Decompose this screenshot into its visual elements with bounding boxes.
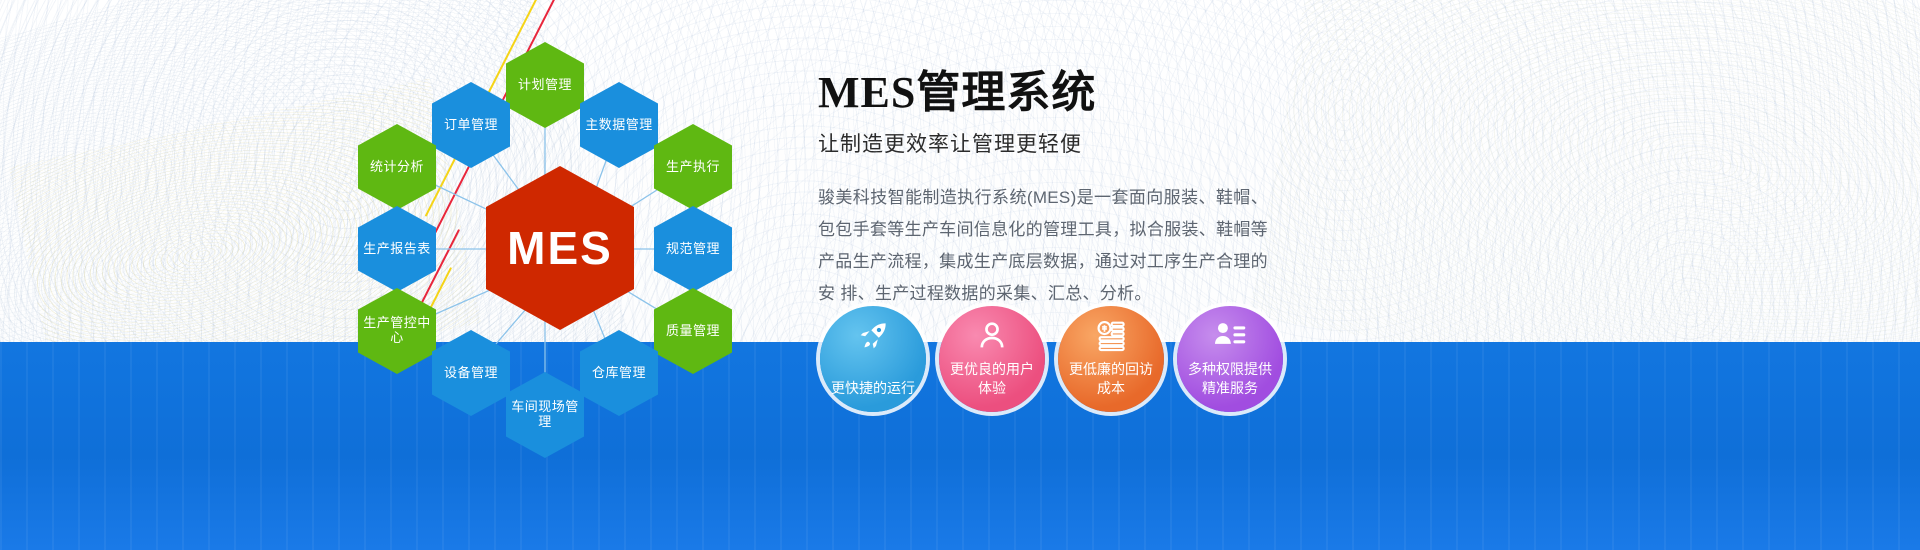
user-icon [939,319,1045,353]
hex-label: 生产管控中心 [358,316,436,346]
hero-copy: MES管理系统 让制造更效率让管理更轻便 骏美科技智能制造执行系统(MES)是一… [818,56,1618,310]
badge-label: 更低廉的回访成本 [1063,360,1159,412]
feature-badge-better-user-experience[interactable]: 更优良的用户体验 [939,306,1045,412]
hero-paragraph: 骏美科技智能制造执行系统(MES)是一套面向服装、鞋帽、包包手套等生产车间信息化… [818,182,1268,310]
badge-label: 多种权限提供精准服务 [1182,360,1278,412]
feature-badge-faster-operation[interactable]: 更快捷的运行 [820,306,926,412]
hex-label: 设备管理 [444,366,498,381]
coins-icon [1058,319,1164,353]
feature-badge-lower-cost[interactable]: 更低廉的回访成本 [1058,306,1164,412]
feature-badge-list: 更快捷的运行 更优良的用户体验 [820,306,1283,412]
roles-icon [1177,319,1283,353]
hex-label: 生产执行 [666,160,720,175]
hex-label: 生产报告表 [363,242,431,257]
page-subtitle: 让制造更效率让管理更轻便 [818,128,1618,158]
banner-stage: MES 计划管理 订单管理 主数据管理 统计分析 生产执行 生产报告表 规范管理… [0,0,1920,550]
hex-label: 统计分析 [370,160,424,175]
feature-badge-multi-permission[interactable]: 多种权限提供精准服务 [1177,306,1283,412]
mes-hex-diagram: MES 计划管理 订单管理 主数据管理 统计分析 生产执行 生产报告表 规范管理… [340,20,780,440]
hex-label: 主数据管理 [585,118,653,133]
hex-label: 规范管理 [666,242,720,257]
hex-label: 订单管理 [444,118,498,133]
badge-label: 更优良的用户体验 [944,360,1040,412]
hex-center-label: MES [507,222,613,275]
page-title: MES管理系统 [818,56,1618,120]
hex-label: 车间现场管理 [506,400,584,430]
hex-label: 计划管理 [518,78,572,93]
hex-label: 仓库管理 [592,366,646,381]
hex-label: 质量管理 [666,324,720,339]
rocket-icon [820,319,926,353]
badge-label: 更快捷的运行 [825,379,921,412]
